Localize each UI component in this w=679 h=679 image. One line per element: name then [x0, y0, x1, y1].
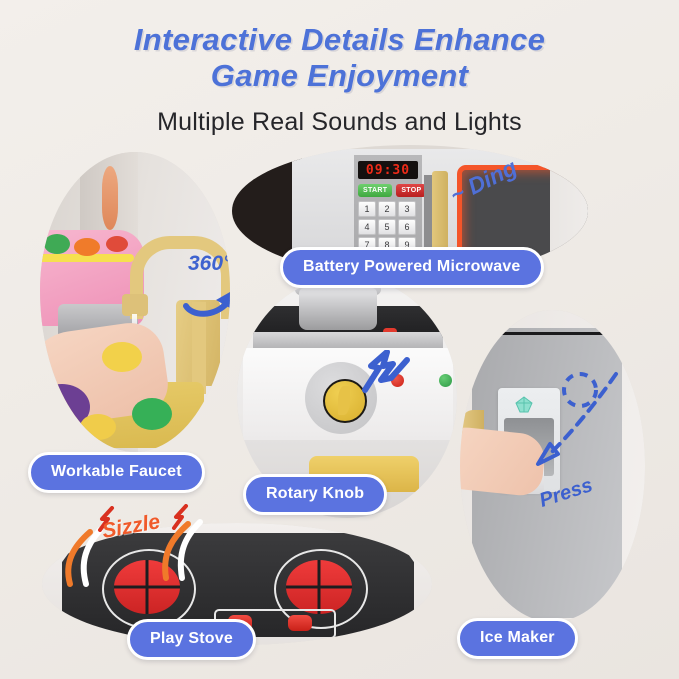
infographic-canvas: Interactive Details Enhance Game Enjoyme… [0, 0, 679, 679]
keypad-key-6[interactable]: 6 [398, 219, 416, 235]
label-play-stove[interactable]: Play Stove [127, 619, 256, 660]
green-indicator-light [439, 374, 452, 387]
wall-decor-stripe [102, 166, 118, 230]
microwave-start-button[interactable]: START [358, 184, 392, 197]
microwave-stop-button[interactable]: STOP [396, 184, 426, 197]
oven-front-panel: ka~ka~ [243, 348, 453, 440]
press-dashed-arrow-icon [528, 368, 624, 486]
rotation-arrow-icon [180, 280, 230, 320]
keypad-key-3[interactable]: 3 [398, 201, 416, 217]
label-battery-powered-microwave[interactable]: Battery Powered Microwave [280, 247, 544, 288]
toy-food-green [44, 234, 70, 254]
burner-element-right [286, 560, 352, 614]
keypad-key-4[interactable]: 4 [358, 219, 376, 235]
sound-bolt-icon [357, 350, 411, 394]
microwave-right-edge [550, 145, 588, 277]
toy-food-lemon [102, 342, 142, 372]
title-line-1: Interactive Details Enhance [0, 22, 679, 58]
label-workable-faucet[interactable]: Workable Faucet [28, 452, 205, 493]
page-subtitle: Multiple Real Sounds and Lights [0, 108, 679, 137]
toy-food-orange [74, 238, 100, 256]
sizzle-spark-right-icon [168, 504, 194, 530]
microwave-action-buttons: START STOP [358, 184, 426, 197]
keypad-key-1[interactable]: 1 [358, 201, 376, 217]
photo-ice-maker: Press [460, 310, 645, 622]
title-line-2: Game Enjoyment [0, 58, 679, 94]
cooktop-glass-edge [253, 332, 443, 348]
toy-food-red [106, 236, 128, 252]
faucet-spout [122, 294, 148, 316]
label-ice-maker[interactable]: Ice Maker [457, 618, 578, 659]
page-title: Interactive Details Enhance Game Enjoyme… [0, 22, 679, 94]
toy-cooking-pot [299, 288, 377, 330]
photo-workable-faucet: 360° [40, 152, 230, 452]
toy-food-yellow-ball [80, 414, 116, 440]
microwave-keypad: 1 2 3 4 5 6 7 8 9 [358, 201, 416, 253]
stove-knob-right[interactable] [288, 615, 312, 631]
burner-cross-vertical-right [318, 560, 321, 614]
annotation-360-degrees: 360° [188, 252, 230, 276]
microwave-display: 09:30 [358, 161, 418, 179]
keypad-key-5[interactable]: 5 [378, 219, 396, 235]
label-rotary-knob[interactable]: Rotary Knob [243, 474, 387, 515]
fridge-top-seam [482, 332, 612, 335]
keypad-key-2[interactable]: 2 [378, 201, 396, 217]
burner-cross-vertical-left [146, 560, 149, 614]
microwave-timer-value: 09:30 [366, 163, 410, 178]
toy-food-green-ball [132, 398, 172, 430]
